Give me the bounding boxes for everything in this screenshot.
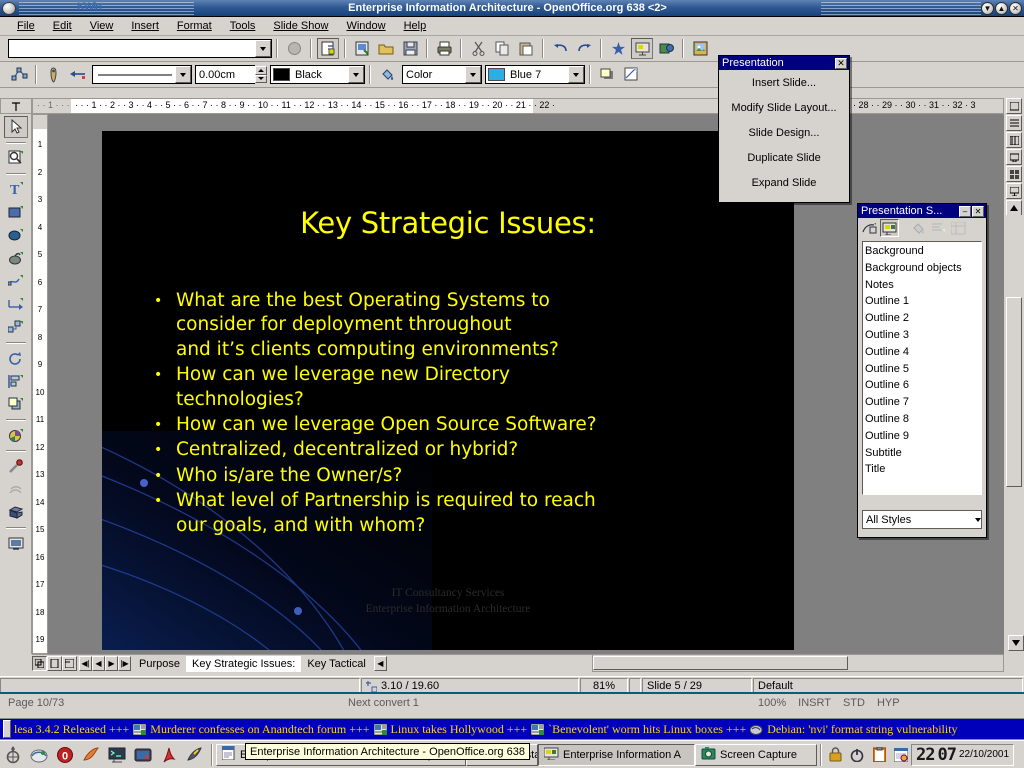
bullet-text: What are the best Operating Systems to c… — [176, 289, 774, 362]
notes-view-button[interactable] — [62, 656, 77, 671]
behind-page-indicator: Page 10/73 — [8, 697, 158, 709]
maximize-button[interactable]: ▲ — [995, 2, 1008, 15]
select-arrow-icon[interactable] — [4, 116, 28, 138]
system-tray — [825, 744, 911, 766]
styles-filter-combo[interactable]: All Styles — [862, 510, 982, 529]
fill-format-mode-icon — [909, 219, 928, 237]
news-icon — [133, 724, 146, 735]
ticker-item-3[interactable]: `Benevolent' worm hits Linux boxes +++ — [548, 722, 746, 737]
presentation-toolbox-title: Presentation — [722, 57, 784, 69]
taskbar-item-ooo-impress[interactable]: Enterprise Information A — [538, 744, 695, 766]
clock-hours: 22 — [916, 745, 934, 765]
menu-window[interactable]: Window — [337, 19, 394, 33]
first-slide-button[interactable]: ◀| — [79, 656, 92, 671]
menu-format-label: Format — [177, 20, 212, 32]
behind-style-indicator: Next convert 1 — [348, 697, 528, 709]
titlebar-stripes-left: KWin — [19, 2, 194, 15]
next-slide-button[interactable]: ▶ — [105, 656, 118, 671]
fill-color-swatch — [488, 68, 505, 81]
ruler-ticks-main: · · · 1 · · 2 · · 3 · · 4 · · 5 · · 6 · … — [75, 100, 555, 113]
menu-slideshow[interactable]: Slide Show — [264, 19, 337, 33]
style-item-title[interactable]: Title — [865, 461, 981, 478]
presentation-styles-icon[interactable] — [880, 219, 899, 237]
copy-icon[interactable] — [491, 38, 513, 59]
line-style-preview — [93, 67, 175, 82]
window-titlebar[interactable]: KWin Enterprise Information Architecture… — [0, 0, 1024, 17]
menu-insert-label: Insert — [131, 20, 159, 32]
slide-bullet-list[interactable]: • What are the best Operating Systems to… — [154, 289, 774, 539]
ruler-corner[interactable] — [0, 98, 32, 114]
scroll-down-button[interactable] — [1008, 635, 1024, 651]
display-icon[interactable] — [130, 743, 156, 767]
style-combo[interactable] — [8, 39, 272, 58]
style-item-notes[interactable]: Notes — [865, 277, 981, 294]
new-style-from-selection-icon — [929, 219, 948, 237]
close-button[interactable]: ✕ — [1009, 2, 1022, 15]
vscroll-thumb[interactable] — [1006, 297, 1022, 487]
outline-list-icon[interactable] — [1006, 115, 1022, 131]
clock-date: 22/10/2001 — [959, 749, 1009, 760]
news-icon — [531, 724, 544, 735]
slide-tab-purpose[interactable]: Purpose — [133, 656, 186, 672]
slide-design-button[interactable]: Slide Design... — [719, 120, 849, 145]
menu-view[interactable]: View — [81, 19, 123, 33]
bullet-item: • Centralized, decentralized or hybrid? — [154, 438, 774, 462]
home-icon[interactable] — [78, 743, 104, 767]
fill-type-combo[interactable]: Color — [402, 65, 482, 84]
open-from-template-icon[interactable] — [351, 38, 373, 59]
function-toolbar — [0, 36, 1024, 62]
menu-help[interactable]: Help — [395, 19, 436, 33]
close-icon[interactable]: ✕ — [835, 58, 847, 69]
taskbar-item-label: Screen Capture — [720, 749, 797, 761]
line-width-value: 0.00cm — [196, 69, 255, 81]
hscroll-thumb[interactable] — [593, 656, 848, 670]
news-ticker[interactable]: lesa 3.4.2 Released +++ Murderer confess… — [0, 718, 1024, 740]
style-item-subtitle[interactable]: Subtitle — [865, 445, 981, 462]
debian-icon — [750, 724, 763, 735]
utility-icon[interactable] — [182, 743, 208, 767]
bullet-text: Centralized, decentralized or hybrid? — [176, 438, 774, 462]
behind-insert-mode: INSRT — [798, 697, 831, 709]
menu-window-label: Window — [346, 20, 385, 32]
curve-tool-icon[interactable] — [4, 270, 28, 292]
style-item-outline-5[interactable]: Outline 5 — [865, 361, 981, 378]
bullet-marker: • — [154, 438, 176, 462]
background-window-statusbar: Page 10/73 Next convert 1 100% INSRT STD… — [0, 692, 1024, 714]
slide-view-icon[interactable] — [1006, 98, 1022, 114]
style-item-outline-6[interactable]: Outline 6 — [865, 377, 981, 394]
ticker-item-0[interactable]: lesa 3.4.2 Released +++ — [14, 722, 129, 737]
insert-image-icon[interactable] — [689, 38, 711, 59]
line-width-stepper[interactable] — [255, 66, 267, 83]
clock-minutes: 07 — [937, 745, 955, 765]
behind-zoom: 100% — [758, 697, 786, 709]
minimize-button[interactable]: ▼ — [981, 2, 994, 15]
status-position-value: 3.10 / 19.60 — [381, 680, 439, 692]
fill-bucket-icon[interactable] — [376, 64, 398, 85]
bullet-item: • How can we leverage Open Source Softwa… — [154, 413, 774, 437]
menu-view-label: View — [90, 20, 114, 32]
ruler-ticks-left: · · 1 · · · — [37, 100, 70, 113]
effects-disabled-icon — [4, 478, 28, 500]
text-tool-icon[interactable]: T — [4, 178, 28, 200]
kmenu-icon[interactable] — [0, 743, 26, 767]
chevron-down-icon[interactable] — [465, 66, 481, 83]
window-manager-label: KWin — [77, 2, 101, 13]
chevron-down-icon[interactable] — [175, 66, 191, 83]
behind-selection-mode: STD — [843, 697, 865, 709]
slide-footer-line2: Enterprise Information Architecture — [102, 601, 794, 618]
menubar: File Edit View Insert Format Tools Slide… — [0, 17, 1024, 36]
clipboard-icon[interactable] — [869, 745, 889, 765]
outline-view-button[interactable] — [47, 656, 62, 671]
eyedropper-icon[interactable] — [4, 455, 28, 477]
effects-tool-icon[interactable] — [4, 424, 28, 446]
line-tool-icon[interactable] — [4, 293, 28, 315]
window-title: Enterprise Information Architecture - Op… — [194, 2, 821, 14]
styles-panel-title: Presentation S... — [861, 205, 942, 217]
horizontal-scrollbar[interactable] — [592, 654, 1004, 672]
bullet-item: • Who is/are the Owner/s? — [154, 464, 774, 488]
graphic-styles-icon[interactable] — [860, 219, 879, 237]
menu-tools[interactable]: Tools — [221, 19, 265, 33]
chevron-down-icon[interactable] — [568, 66, 584, 83]
close-icon[interactable]: ✕ — [972, 206, 984, 217]
style-item-outline-1[interactable]: Outline 1 — [865, 293, 981, 310]
ooo-writer-icon — [222, 746, 236, 763]
slide-title[interactable]: Key Strategic Issues: — [102, 206, 794, 240]
menu-slideshow-label: Slide Show — [273, 20, 328, 32]
vertical-ruler[interactable]: 1234567 891011121314 1516171819 — [32, 114, 48, 654]
bullet-item: • What are the best Operating Systems to… — [154, 289, 774, 362]
stepper-up[interactable] — [255, 66, 267, 75]
chevron-down-icon[interactable] — [348, 66, 364, 83]
slide-footer: IT Consultancy Services Enterprise Infor… — [102, 585, 794, 618]
bullet-text: Who is/are the Owner/s? — [176, 464, 774, 488]
minimize-icon[interactable]: – — [959, 206, 971, 217]
horizontal-ruler[interactable]: · · 1 · · · · · · 1 · · 2 · · 3 · · 4 · … — [32, 98, 1004, 114]
behind-hyperlink-mode: HYP — [877, 697, 900, 709]
slide-canvas[interactable]: Key Strategic Issues: • What are the bes… — [102, 131, 794, 650]
line-style-combo[interactable] — [92, 65, 192, 84]
edit-points-icon[interactable] — [8, 64, 30, 85]
style-item-background-objects[interactable]: Background objects — [865, 260, 981, 277]
styles-list[interactable]: Background Background objects Notes Outl… — [862, 241, 982, 495]
ticker-drag-handle[interactable] — [3, 720, 11, 738]
object-toolbar: 0.00cm Black Color Blue 7 — [0, 62, 1024, 88]
clock[interactable]: 22 07 22/10/2001 — [911, 744, 1014, 766]
slide-footer-line1: IT Consultancy Services — [102, 585, 794, 602]
bullet-item: • What level of Partnership is required … — [154, 489, 774, 538]
bullet-marker: • — [154, 464, 176, 488]
menu-help-label: Help — [404, 20, 427, 32]
modify-slide-layout-button[interactable]: Modify Slide Layout... — [719, 95, 849, 120]
insert-slide-button[interactable]: Insert Slide... — [719, 70, 849, 95]
ksnapshot-icon — [701, 746, 716, 763]
menu-tools-label: Tools — [230, 20, 256, 32]
new-document-icon[interactable] — [317, 38, 339, 59]
svg-text:T: T — [10, 183, 20, 197]
position-size-icon — [366, 681, 377, 692]
stop-icon[interactable] — [283, 38, 305, 59]
slide-sorter-icon[interactable] — [1006, 166, 1022, 182]
start-slideshow-icon[interactable] — [1006, 183, 1022, 199]
logout-icon[interactable] — [847, 745, 867, 765]
chevron-down-icon[interactable] — [255, 40, 271, 57]
style-item-outline-4[interactable]: Outline 4 — [865, 344, 981, 361]
titlebar-stripes-right — [821, 2, 981, 15]
style-item-outline-8[interactable]: Outline 8 — [865, 411, 981, 428]
menu-file-label: File — [17, 20, 35, 32]
paste-icon[interactable] — [515, 38, 537, 59]
ruler-ticks-right: · 28 · · 29 · · 30 · · 31 · · 32 · 3 — [853, 100, 976, 113]
window-menu-icon[interactable] — [2, 2, 16, 15]
bullet-item: • How can we leverage new Directory tech… — [154, 363, 774, 412]
menu-file[interactable]: File — [8, 19, 44, 33]
drawing-toolbar: T — [0, 98, 32, 654]
redo-icon[interactable] — [573, 38, 595, 59]
zoom-icon[interactable] — [4, 147, 28, 169]
news-icon — [374, 724, 387, 735]
ticker-item-2[interactable]: Linux takes Hollywood +++ — [391, 722, 528, 737]
presentation-styles-panel[interactable]: Presentation S... – ✕ — [857, 203, 987, 538]
line-color-combo[interactable]: Black — [270, 65, 365, 84]
bullet-text: How can we leverage new Directory techno… — [176, 363, 774, 412]
expand-slide-button[interactable]: Expand Slide — [719, 170, 849, 195]
taskbar-item-label: Enterprise Information A — [563, 749, 681, 761]
open-folder-icon[interactable] — [375, 38, 397, 59]
svg-text:0: 0 — [62, 750, 68, 762]
tab-marker-icon — [10, 100, 22, 112]
drawing-view-button[interactable] — [32, 656, 47, 671]
chevron-down-icon[interactable] — [975, 518, 981, 522]
bullet-marker: • — [154, 289, 176, 362]
line-color-value: Black — [290, 69, 348, 81]
arrow-style-icon[interactable] — [66, 64, 88, 85]
undo-icon[interactable] — [549, 38, 571, 59]
konqueror-icon[interactable] — [26, 743, 52, 767]
line-color-swatch — [273, 68, 290, 81]
presentation-box-icon[interactable] — [631, 38, 653, 59]
presentation-toolbox-titlebar[interactable]: Presentation ✕ — [719, 56, 849, 70]
align-tool-icon[interactable] — [4, 370, 28, 392]
presentation-toolbox[interactable]: Presentation ✕ Insert Slide... Modify Sl… — [718, 55, 850, 203]
slide-tab-key-strategic-issues[interactable]: Key Strategic Issues: — [186, 656, 301, 672]
scroll-up-button[interactable] — [1006, 200, 1022, 216]
object-properties-icon[interactable] — [620, 64, 642, 85]
style-item-outline-7[interactable]: Outline 7 — [865, 394, 981, 411]
fill-type-value: Color — [403, 69, 465, 81]
taskbar-item-screen-capture[interactable]: Screen Capture — [695, 744, 817, 766]
shadow-icon[interactable] — [596, 64, 618, 85]
style-item-outline-9[interactable]: Outline 9 — [865, 428, 981, 445]
rotate-tool-icon[interactable] — [4, 347, 28, 369]
menu-format[interactable]: Format — [168, 19, 221, 33]
stepper-down[interactable] — [255, 75, 267, 84]
last-slide-button[interactable]: |▶ — [118, 656, 131, 671]
save-icon[interactable] — [399, 38, 421, 59]
bullet-marker: • — [154, 413, 176, 437]
rectangle-tool-icon[interactable] — [4, 201, 28, 223]
line-width-field[interactable]: 0.00cm — [195, 65, 255, 84]
prev-slide-button[interactable]: ◀ — [92, 656, 105, 671]
ticker-item-1[interactable]: Murderer confesses on Anandtech forum ++… — [150, 722, 369, 737]
taskbar-tooltip: Enterprise Information Architecture - Op… — [245, 743, 530, 760]
styles-panel-titlebar[interactable]: Presentation S... – ✕ — [858, 204, 986, 218]
line-ends-arrow-icon[interactable] — [42, 64, 64, 85]
bullet-text: What level of Partnership is required to… — [176, 489, 774, 538]
bullet-marker: • — [154, 363, 176, 412]
navigator-icon[interactable] — [607, 38, 629, 59]
vertical-scrollbar[interactable] — [1004, 215, 1024, 654]
help-icon[interactable]: 0 — [52, 743, 78, 767]
cut-icon[interactable] — [467, 38, 489, 59]
ellipse-tool-icon[interactable] — [4, 224, 28, 246]
style-item-outline-2[interactable]: Outline 2 — [865, 310, 981, 327]
style-item-outline-3[interactable]: Outline 3 — [865, 327, 981, 344]
bullet-marker: • — [154, 489, 176, 538]
tab-scroll-button[interactable]: ◀ — [374, 656, 387, 671]
slide-tab-key-tactical[interactable]: Key Tactical — [301, 656, 372, 672]
3d-objects-icon[interactable] — [4, 247, 28, 269]
ooo-impress-icon — [544, 747, 559, 763]
handout-icon[interactable] — [1006, 149, 1022, 165]
arrange-tool-icon[interactable] — [4, 393, 28, 415]
slide-tab-bar: ◀| ◀ ▶ |▶ Purpose Key Strategic Issues: … — [32, 654, 592, 672]
vertical-ruler-ticks: 1234567 891011121314 1516171819 — [33, 131, 47, 654]
notes-pages-icon[interactable] — [1006, 132, 1022, 148]
style-item-background[interactable]: Background — [865, 243, 981, 260]
fill-color-combo[interactable]: Blue 7 — [485, 65, 585, 84]
print-icon[interactable] — [433, 38, 455, 59]
bullet-text: How can we leverage Open Source Software… — [176, 413, 774, 437]
terminal-icon[interactable] — [104, 743, 130, 767]
lock-icon[interactable] — [825, 745, 845, 765]
3d-controller-icon[interactable] — [4, 501, 28, 523]
ticker-item-4[interactable]: Debian: 'nvi' format string vulnerabilit… — [767, 722, 957, 737]
fill-color-value: Blue 7 — [505, 69, 568, 81]
acrobat-icon[interactable] — [156, 743, 182, 767]
duplicate-slide-button[interactable]: Duplicate Slide — [719, 145, 849, 170]
menu-edit[interactable]: Edit — [44, 19, 81, 33]
menu-insert[interactable]: Insert — [122, 19, 168, 33]
styles-filter-value: All Styles — [863, 514, 975, 526]
klipper-icon[interactable] — [891, 745, 911, 765]
presentation-tool-icon[interactable] — [4, 532, 28, 554]
connector-tool-icon[interactable] — [4, 316, 28, 338]
update-style-icon — [949, 219, 968, 237]
menu-edit-label: Edit — [53, 20, 72, 32]
styles-panel-toolbar — [858, 218, 986, 238]
gallery-icon[interactable] — [655, 38, 677, 59]
